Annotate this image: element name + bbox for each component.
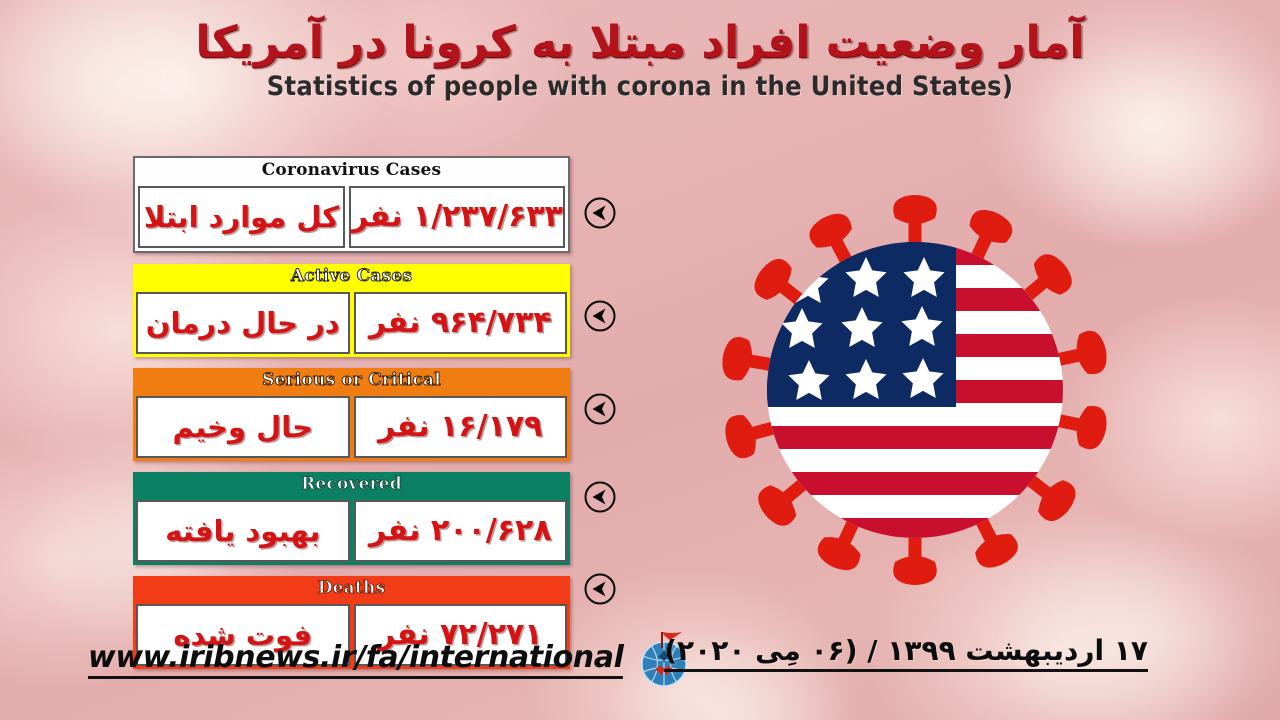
arrow-left-icon-recovered [583, 480, 617, 514]
stat-value-cell: ۱/۲۳۷/۶۳۳ نفر [349, 186, 565, 248]
footer-date-block: ۱۷ اردیبهشت ۱۳۹۹ / (۰۶ مِی ۲۰۲۰) [664, 634, 1148, 672]
stat-label-text: حال وخیم [172, 413, 313, 442]
footer-site-block: www.iribnews.ir/fa/international [88, 628, 695, 690]
stat-card-coronavirus-cases[interactable]: Coronavirus Cases ۱/۲۳۷/۶۳۳ نفر کل موارد… [133, 156, 570, 253]
stat-label-cell: کل موارد ابتلا [138, 186, 345, 248]
stat-label-text: کل موارد ابتلا [144, 203, 339, 232]
us-flag-ball [760, 235, 1080, 555]
site-url-link[interactable]: www.iribnews.ir/fa/international [88, 640, 623, 679]
arrow-left-icon-serious-or-critical [583, 392, 617, 426]
stat-card-active-cases[interactable]: Active Cases ۹۶۴/۷۳۴ نفر در حال درمان [133, 264, 570, 357]
publication-date: ۱۷ اردیبهشت ۱۳۹۹ / (۰۶ مِی ۲۰۲۰) [664, 634, 1148, 672]
stat-label-cell: در حال درمان [136, 292, 350, 354]
stat-label-cell: بهبود یافته [136, 500, 350, 562]
stat-label-cell: حال وخیم [136, 396, 350, 458]
arrow-left-icon-coronavirus-cases [583, 196, 617, 230]
stat-card-body: ۱/۲۳۷/۶۳۳ نفر کل موارد ابتلا [135, 183, 568, 251]
infographic-canvas: آمار وضعیت افراد مبتلا به کرونا در آمریک… [0, 0, 1280, 720]
stat-value-text: ۹۶۴/۷۳۴ نفر [369, 308, 552, 338]
stat-card-header-label: Coronavirus Cases [135, 158, 568, 183]
arrow-left-icon-active-cases [583, 299, 617, 333]
stat-card-body: ۹۶۴/۷۳۴ نفر در حال درمان [133, 289, 570, 357]
stat-value-cell: ۹۶۴/۷۳۴ نفر [354, 292, 568, 354]
stat-value-cell: ۲۰۰/۶۲۸ نفر [354, 500, 568, 562]
stat-card-body: ۲۰۰/۶۲۸ نفر بهبود یافته [133, 497, 570, 565]
header: آمار وضعیت افراد مبتلا به کرونا در آمریک… [0, 18, 1280, 102]
stat-card-header-label: Deaths [133, 576, 570, 601]
page-title-farsi: آمار وضعیت افراد مبتلا به کرونا در آمریک… [0, 18, 1280, 69]
coronavirus-us-flag-graphic [700, 175, 1130, 605]
stat-card-recovered[interactable]: Recovered ۲۰۰/۶۲۸ نفر بهبود یافته [133, 472, 570, 565]
stat-value-text: ۲۰۰/۶۲۸ نفر [369, 516, 552, 546]
stat-label-text: در حال درمان [146, 309, 340, 338]
stat-label-text: بهبود یافته [165, 517, 320, 546]
stat-card-body: ۱۶/۱۷۹ نفر حال وخیم [133, 393, 570, 461]
stat-value-text: ۱/۲۳۷/۶۳۳ نفر [351, 202, 563, 232]
stat-card-header-label: Recovered [133, 472, 570, 497]
stat-card-header-label: Active Cases [133, 264, 570, 289]
stat-value-cell: ۱۶/۱۷۹ نفر [354, 396, 568, 458]
page-title-english: Statistics of people with corona in the … [0, 71, 1280, 102]
stat-card-serious-or-critical[interactable]: Serious or Critical ۱۶/۱۷۹ نفر حال وخیم [133, 368, 570, 461]
stat-card-header-label: Serious or Critical [133, 368, 570, 393]
flag-stars [781, 257, 944, 400]
statistics-card-list: Coronavirus Cases ۱/۲۳۷/۶۳۳ نفر کل موارد… [133, 156, 570, 680]
arrow-left-icon-deaths [583, 572, 617, 606]
stat-value-text: ۱۶/۱۷۹ نفر [378, 412, 542, 442]
